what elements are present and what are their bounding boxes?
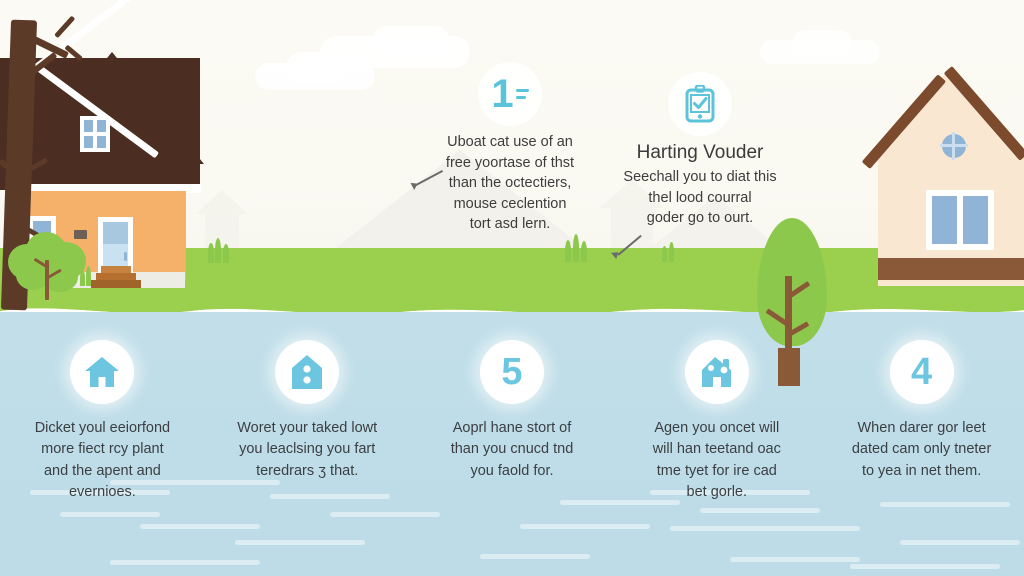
clipboard-check-icon (668, 72, 732, 136)
number-five-icon: 5 (480, 340, 544, 404)
card-4-line: bet gorle. (653, 482, 781, 503)
card-4-line: will han teetand oac (653, 439, 781, 460)
card-1-text: Dicket youl eeiorfond more fiect rcy pla… (35, 418, 170, 504)
callout-1-line: than the octectiers, (430, 173, 590, 194)
callout-2: Harting Vouder Seechall you to diat this… (615, 72, 785, 229)
left-house-door-knob (124, 252, 127, 261)
card-3-text: Aoprl hane stort of than you cnucd tnd y… (451, 418, 574, 482)
left-bush (8, 232, 86, 300)
card-3-line: than you cnucd tnd (451, 439, 574, 460)
house-glyph (84, 355, 120, 389)
grass-tuft (223, 244, 229, 263)
water-wave (670, 526, 860, 531)
water-wave (140, 524, 260, 529)
card-5-line: When darer gor leet (852, 418, 991, 439)
grass-tuft (215, 238, 221, 263)
clipboard-check-glyph (683, 85, 717, 123)
tall-house-glyph (291, 354, 323, 390)
grass-tuft (573, 234, 579, 262)
grass-tuft (565, 240, 571, 262)
callout-2-heading: Harting Vouder (615, 142, 785, 164)
water-wave (330, 512, 440, 517)
tree-crown (757, 218, 827, 346)
grass-tuft (581, 241, 587, 262)
cloud-4 (372, 26, 450, 56)
card-1-line: more fiect rcy plant (35, 439, 170, 460)
callout-1-line: Uboat cat use of an (430, 132, 590, 153)
callout-1-line: free yoortase of thst (430, 153, 590, 174)
card-2-line: Woret your taked lowt (237, 418, 377, 439)
water-wave (110, 560, 260, 565)
water-wave (730, 557, 860, 562)
card-5-line: dated cam only tneter (852, 439, 991, 460)
card-2-line: teredrars ʒ that. (237, 461, 377, 482)
card-2-line: you leaclsing you fart (237, 439, 377, 460)
water-wave (900, 540, 1020, 545)
card-1-line: and the apent and (35, 461, 170, 482)
water-wave (850, 564, 1000, 569)
number-four-icon: 4 (890, 340, 954, 404)
right-house-base (878, 258, 1024, 280)
callout-2-line: thel lood courral (615, 188, 785, 209)
number-one-with-ticks-icon: 1 (478, 62, 542, 126)
window-mullion (957, 190, 963, 250)
infographic-stage: 1 Uboat cat use of an free yoortase of t… (0, 0, 1024, 576)
water-wave (235, 540, 365, 545)
card-3-line: you faold for. (451, 461, 574, 482)
grass-tuft (208, 243, 214, 263)
card-4-text: Agen you oncet will will han teetand oac… (653, 418, 781, 504)
card-1[interactable]: Dicket youl eeiorfond more fiect rcy pla… (0, 340, 205, 510)
tall-house-icon (275, 340, 339, 404)
card-1-line: Dicket youl eeiorfond (35, 418, 170, 439)
callout-1-number: 1 (491, 74, 512, 114)
house-with-chimney-glyph (698, 355, 736, 389)
house-icon (70, 340, 134, 404)
card-3[interactable]: 5 Aoprl hane stort of than you cnucd tnd… (410, 340, 615, 510)
round-window-mullion (940, 144, 968, 147)
right-house (862, 62, 1024, 262)
bottom-card-row: Dicket youl eeiorfond more fiect rcy pla… (0, 340, 1024, 510)
card-5-text: When darer gor leet dated cam only tnete… (852, 418, 991, 482)
card-5[interactable]: 4 When darer gor leet dated cam only tne… (819, 340, 1024, 510)
tick-marks-icon (516, 85, 529, 103)
card-2-text: Woret your taked lowt you leaclsing you … (237, 418, 377, 482)
callout-2-line: Seechall you to diat this (615, 167, 785, 188)
card-2[interactable]: Woret your taked lowt you leaclsing you … (205, 340, 410, 510)
callout-2-arrow (612, 236, 648, 262)
card-4-line: tme tyet for ire cad (653, 461, 781, 482)
callout-1-line: tort asd lern. (430, 214, 590, 235)
callout-1: 1 Uboat cat use of an free yoortase of t… (430, 62, 590, 235)
callout-1-line: mouse ceclention (430, 194, 590, 215)
card-3-line: Aoprl hane stort of (451, 418, 574, 439)
house-with-chimney-icon (685, 340, 749, 404)
card-3-number: 5 (501, 353, 522, 391)
card-5-line: to yea in net them. (852, 461, 991, 482)
callout-2-line: goder go to ourt. (615, 208, 785, 229)
callout-2-body: Seechall you to diat this thel lood cour… (615, 167, 785, 229)
water-wave (520, 524, 650, 529)
card-4-line: Agen you oncet will (653, 418, 781, 439)
grass-tuft (669, 242, 674, 262)
callout-1-arrow (410, 170, 444, 192)
cloud-6 (792, 30, 852, 56)
card-5-number: 4 (911, 353, 932, 391)
water-wave (60, 512, 160, 517)
grass-tuft (662, 246, 667, 262)
card-4[interactable]: Agen you oncet will will han teetand oac… (614, 340, 819, 510)
card-1-line: evernioes. (35, 482, 170, 503)
water-wave (480, 554, 590, 559)
callout-1-body: Uboat cat use of an free yoortase of ths… (430, 132, 590, 235)
